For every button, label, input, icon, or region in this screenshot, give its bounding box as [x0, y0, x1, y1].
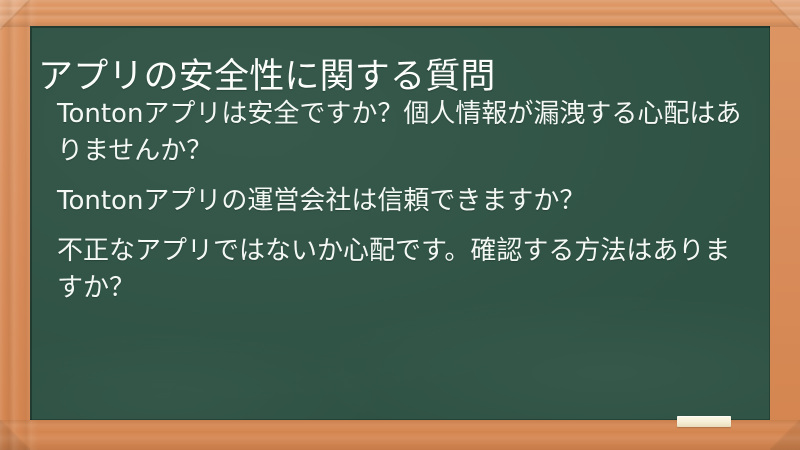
- chalkboard-surface: アプリの安全性に関する質問 Tontonアプリは安全ですか？個人情報が漏洩する心…: [30, 26, 770, 420]
- wood-frame-corner-top-left: [0, 0, 30, 30]
- list-item: Tontonアプリは安全ですか？個人情報が漏洩する心配はありませんか？: [57, 96, 751, 170]
- wood-frame-top: [0, 0, 800, 27]
- question-list: Tontonアプリは安全ですか？個人情報が漏洩する心配はありませんか？ Tont…: [57, 96, 751, 307]
- board-content: アプリの安全性に関する質問 Tontonアプリは安全ですか？個人情報が漏洩する心…: [30, 26, 770, 420]
- wood-frame-corner-top-right: [770, 0, 800, 30]
- list-item: 不正なアプリではないか心配です。確認する方法はありますか？: [57, 233, 751, 307]
- blackboard-panel: アプリの安全性に関する質問 Tontonアプリは安全ですか？個人情報が漏洩する心…: [0, 0, 800, 450]
- wood-frame-corner-bottom-right: [770, 420, 800, 450]
- wood-frame-corner-bottom-left: [0, 420, 30, 450]
- page-title: アプリの安全性に関する質問: [38, 55, 758, 99]
- chalk-stick: [677, 416, 731, 427]
- list-item: Tontonアプリの運営会社は信頼できますか？: [57, 183, 751, 220]
